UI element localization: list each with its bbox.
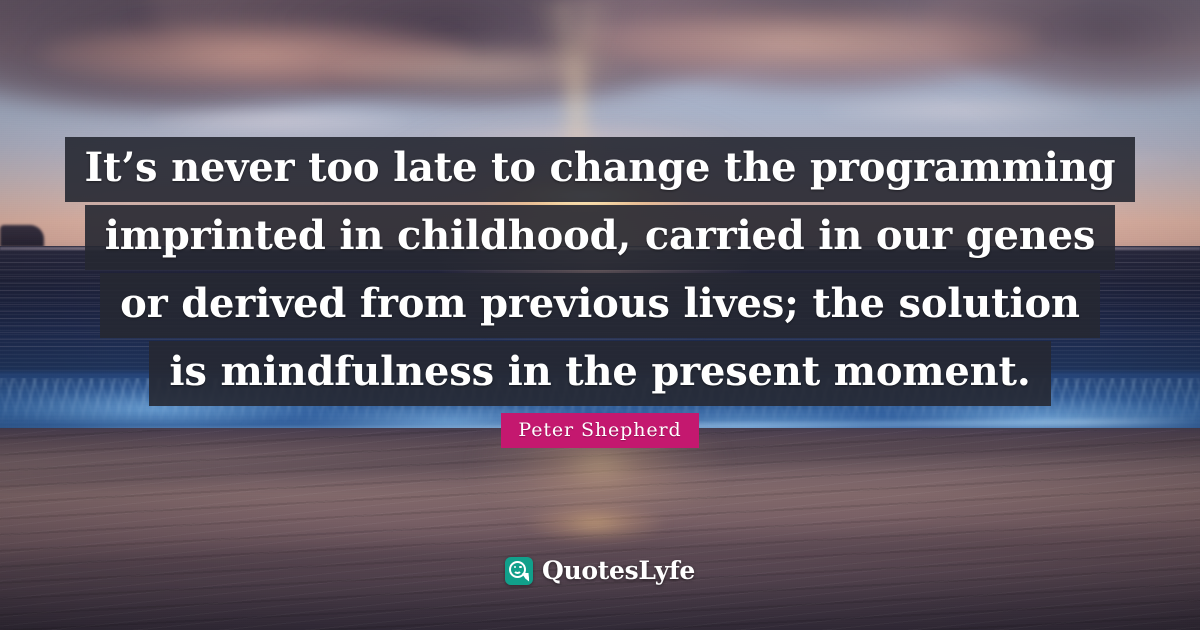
quote-card: It’s never too late to change the progra… [0, 0, 1200, 630]
quote-line-4: is mindfulness in the present moment. [149, 341, 1050, 406]
quote-line-1: It’s never too late to change the progra… [65, 137, 1136, 202]
brand-wordmark: QuotesLyfe [542, 556, 695, 585]
eye-right-icon [519, 566, 522, 569]
quote-line-2: imprinted in childhood, carried in our g… [85, 205, 1116, 270]
smiley-speech-bubble-icon [505, 557, 533, 585]
quote-line-3: or derived from previous lives; the solu… [100, 273, 1100, 338]
quote-text: It’s never too late to change the progra… [0, 137, 1200, 409]
author-attribution: Peter Shepherd [0, 413, 1200, 448]
brand-logo: QuotesLyfe [0, 556, 1200, 585]
author-name-badge: Peter Shepherd [501, 413, 698, 448]
speech-bubble-tail-icon [522, 572, 530, 581]
